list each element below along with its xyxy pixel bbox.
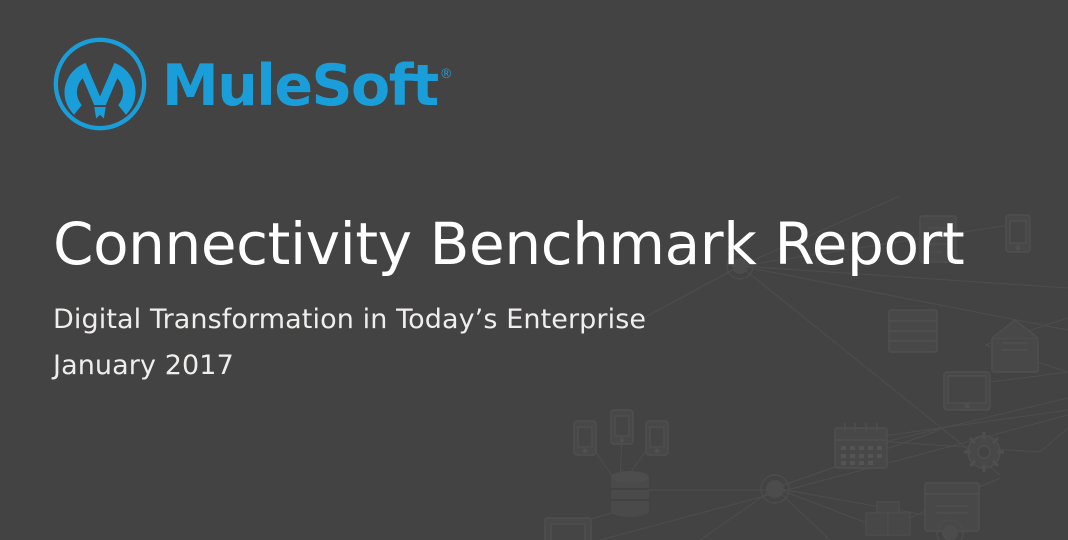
smartphone-icon [574, 421, 596, 455]
page-title: Connectivity Benchmark Report [53, 214, 1013, 275]
gear-icon [964, 432, 1004, 472]
report-cover-slide: MuleSoft ® Connectivity Benchmark Report… [0, 0, 1068, 540]
laptop-icon [545, 518, 591, 540]
mulesoft-logo: MuleSoft ® [52, 36, 453, 132]
report-subtitle: Digital Transformation in Today’s Enterp… [53, 306, 1013, 333]
mulesoft-mule-mark-icon [52, 36, 148, 132]
registered-trademark-icon: ® [440, 68, 453, 81]
calendar-icon [835, 423, 887, 468]
report-date: January 2017 [53, 352, 1013, 379]
hub-node-icon [937, 520, 963, 540]
cover-text-block: Connectivity Benchmark Report Digital Tr… [53, 214, 1013, 379]
database-icon [611, 471, 649, 517]
puzzle-piece-icon [866, 502, 910, 535]
mulesoft-wordmark: MuleSoft ® [162, 58, 453, 115]
smartphone-icon [646, 421, 668, 455]
browser-window-icon [925, 483, 979, 531]
hub-node-icon [761, 475, 789, 503]
smartphone-icon [611, 410, 633, 444]
mulesoft-wordmark-text: MuleSoft [162, 58, 438, 115]
